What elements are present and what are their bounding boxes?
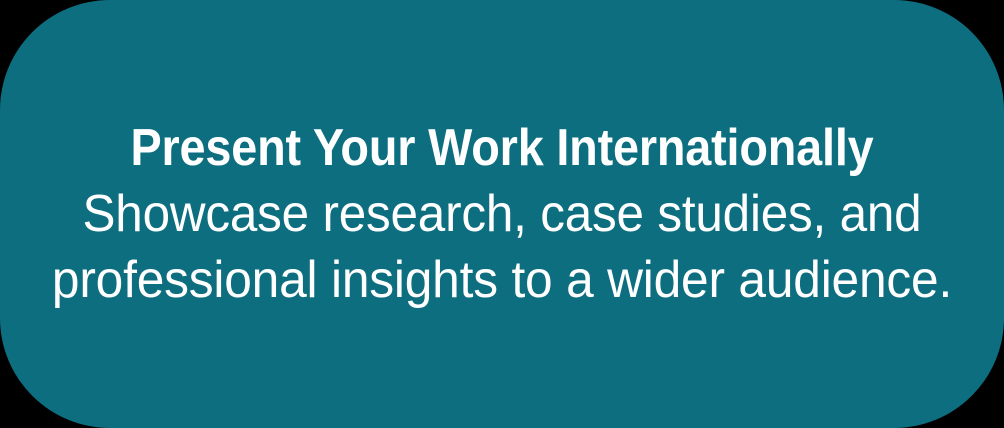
promo-description-line-1: Showcase research, case studies, and <box>25 181 979 247</box>
promo-description-line-2: professional insights to a wider audienc… <box>23 247 982 313</box>
page-title: Present Your Work Internationally <box>50 115 954 181</box>
promo-card: Present Your Work Internationally Showca… <box>0 0 1004 428</box>
